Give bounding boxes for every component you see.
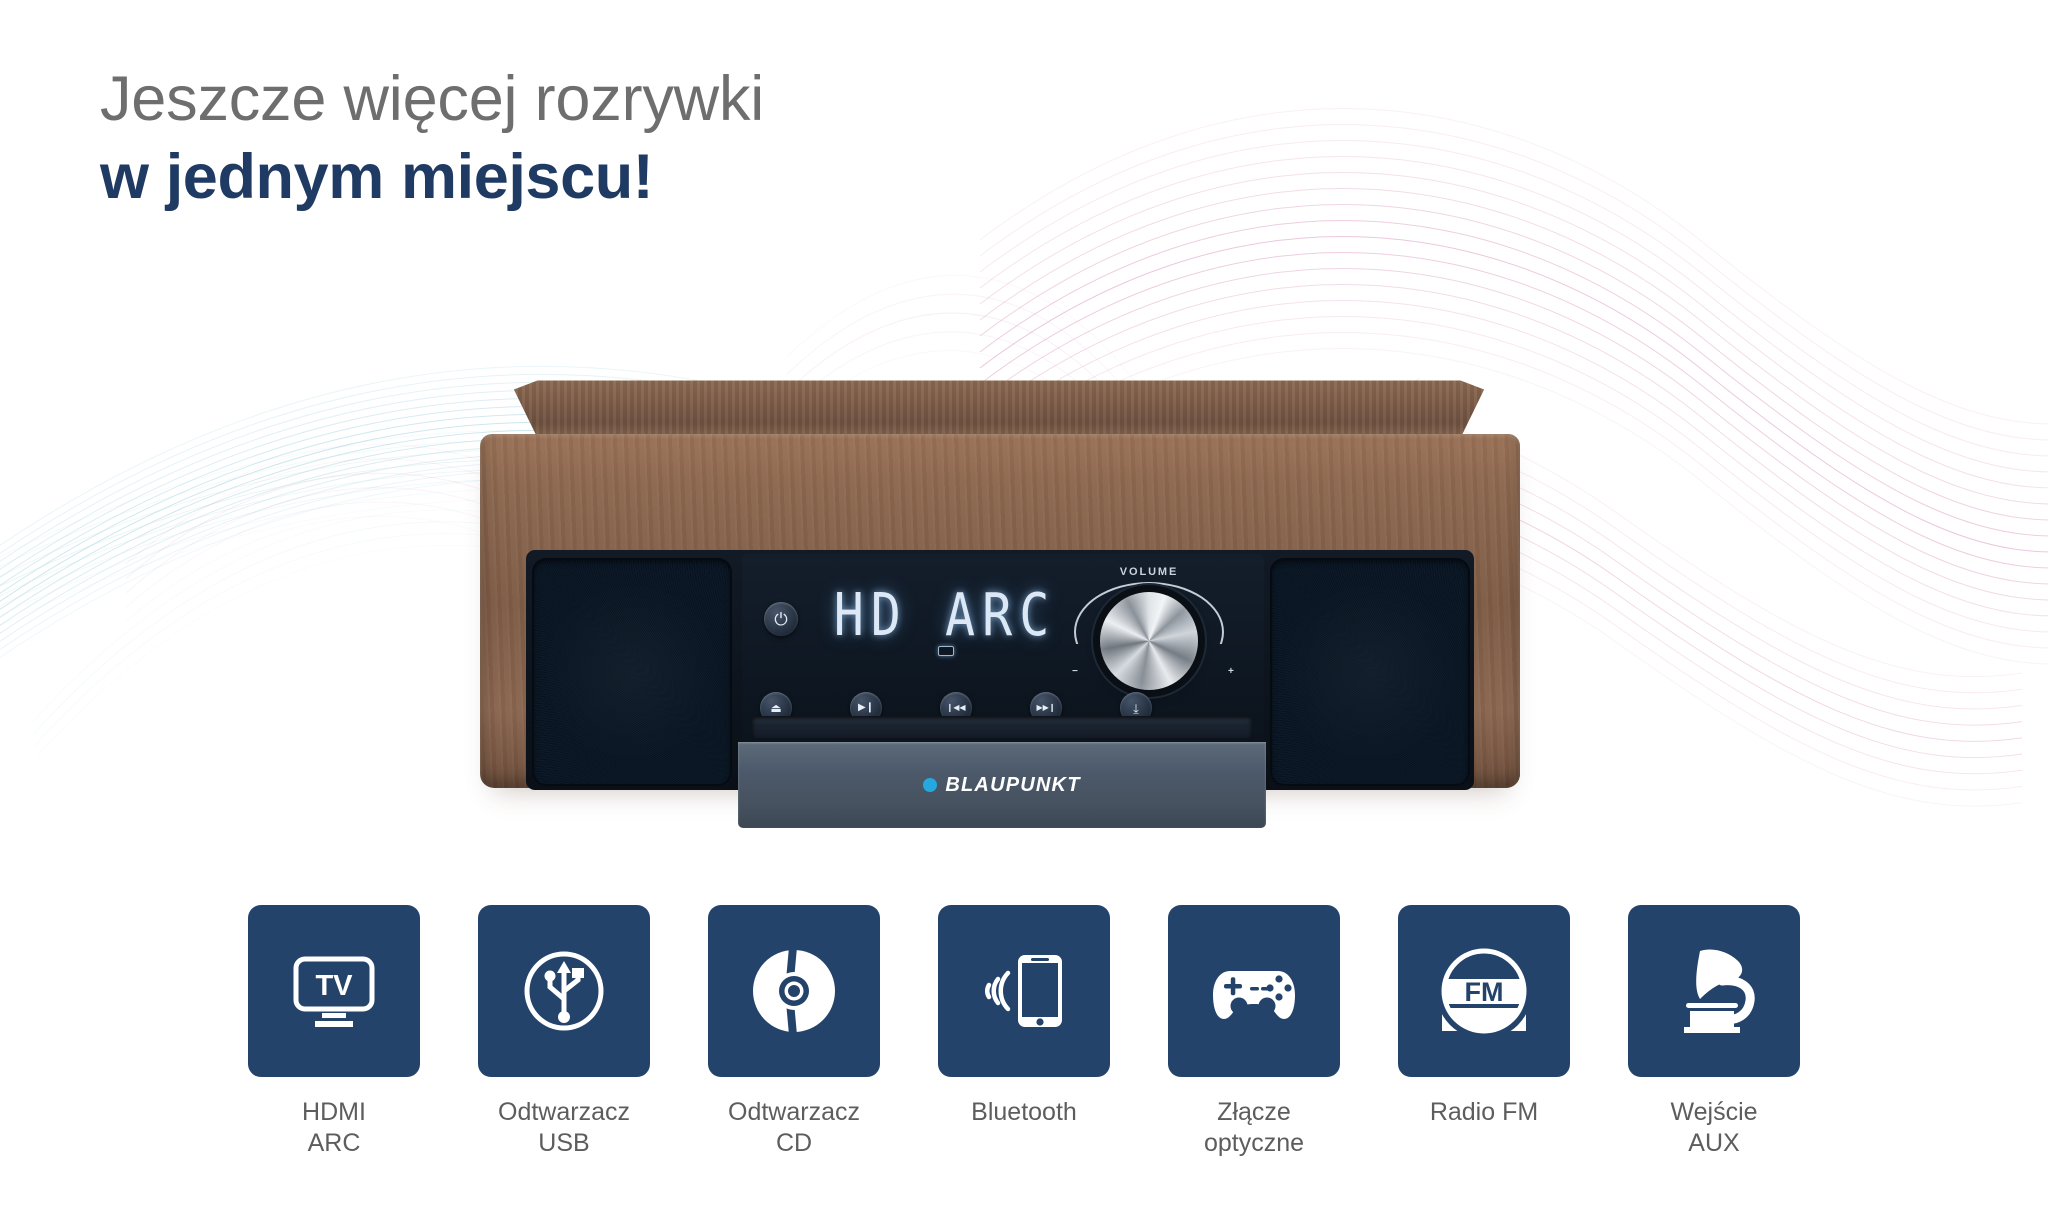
- volume-knob[interactable]: [1100, 592, 1198, 690]
- feature-label: Bluetooth: [971, 1097, 1077, 1128]
- product-image-micro-hifi-system: ⏻ HD ARC VOLUME − + ⏏ ▶❙ ❙: [480, 378, 1520, 788]
- feature-item-optical: Złącze optyczne: [1156, 905, 1353, 1205]
- feature-tile: [938, 905, 1110, 1077]
- feature-item-aux: Wejście AUX: [1616, 905, 1813, 1205]
- headline: Jeszcze więcej rozrywki w jednym miejscu…: [100, 62, 764, 215]
- tv-icon: TV: [282, 939, 386, 1043]
- feature-tile: [478, 905, 650, 1077]
- gamepad-icon: [1200, 937, 1308, 1045]
- feature-tile: [1168, 905, 1340, 1077]
- feature-item-usb: Odtwarzacz USB: [466, 905, 663, 1205]
- cabinet-top-panel: [508, 378, 1490, 442]
- usb-icon: [512, 939, 616, 1043]
- feature-tile: TV: [248, 905, 420, 1077]
- feature-item-bluetooth: Bluetooth: [926, 905, 1123, 1205]
- feature-label: Radio FM: [1430, 1097, 1538, 1128]
- headline-line-2: w jednym miejscu!: [100, 140, 764, 214]
- lcd-display: HD ARC: [830, 578, 1060, 652]
- feature-label: HDMI ARC: [302, 1097, 366, 1158]
- power-button[interactable]: ⏻: [764, 602, 798, 636]
- power-icon: ⏻: [774, 611, 787, 628]
- next-track-icon: ▶▶❙: [1036, 704, 1055, 712]
- volume-minus-label: −: [1072, 666, 1078, 677]
- feature-item-hdmi-arc: TV HDMI ARC: [236, 905, 433, 1205]
- lcd-display-text: HD ARC: [834, 581, 1057, 649]
- headline-line-1: Jeszcze więcej rozrywki: [100, 62, 764, 136]
- svg-text:FM: FM: [1465, 977, 1504, 1007]
- feature-item-cd: Odtwarzacz CD: [696, 905, 893, 1205]
- speaker-grille-left: [532, 558, 732, 786]
- feature-item-fm-radio: FM Radio FM: [1386, 905, 1583, 1205]
- source-input-icon: ⤓: [1133, 702, 1139, 715]
- feature-icon-row: TV HDMI ARC Odtwarzacz USB: [0, 905, 2048, 1205]
- brand-logo-text: BLAUPUNKT: [945, 774, 1080, 797]
- brand-logo-strip: BLAUPUNKT: [738, 742, 1266, 828]
- speaker-grille-right: [1270, 558, 1470, 786]
- volume-plus-label: +: [1228, 666, 1234, 677]
- blaupunkt-dot-icon: [923, 778, 937, 792]
- volume-label: VOLUME: [1094, 566, 1204, 578]
- eject-icon: ⏏: [770, 702, 781, 714]
- cabinet-front-panel: ⏻ HD ARC VOLUME − + ⏏ ▶❙ ❙: [480, 434, 1520, 788]
- feature-tile: [1628, 905, 1800, 1077]
- previous-track-icon: ❙◀◀: [946, 704, 965, 712]
- fm-radio-icon: FM: [1430, 937, 1538, 1045]
- play-pause-icon: ▶❙: [858, 703, 874, 713]
- feature-tile: [708, 905, 880, 1077]
- lcd-indicator-icon: [938, 646, 954, 656]
- feature-label: Odtwarzacz CD: [728, 1097, 860, 1158]
- feature-label: Odtwarzacz USB: [498, 1097, 630, 1158]
- feature-tile: FM: [1398, 905, 1570, 1077]
- cd-tray-slot[interactable]: [752, 716, 1252, 738]
- svg-text:TV: TV: [315, 970, 353, 1002]
- feature-label: Wejście AUX: [1670, 1097, 1757, 1158]
- cd-disc-icon: [742, 939, 846, 1043]
- bluetooth-phone-icon: [972, 939, 1076, 1043]
- feature-label: Złącze optyczne: [1204, 1097, 1304, 1158]
- gramophone-icon: [1660, 937, 1768, 1045]
